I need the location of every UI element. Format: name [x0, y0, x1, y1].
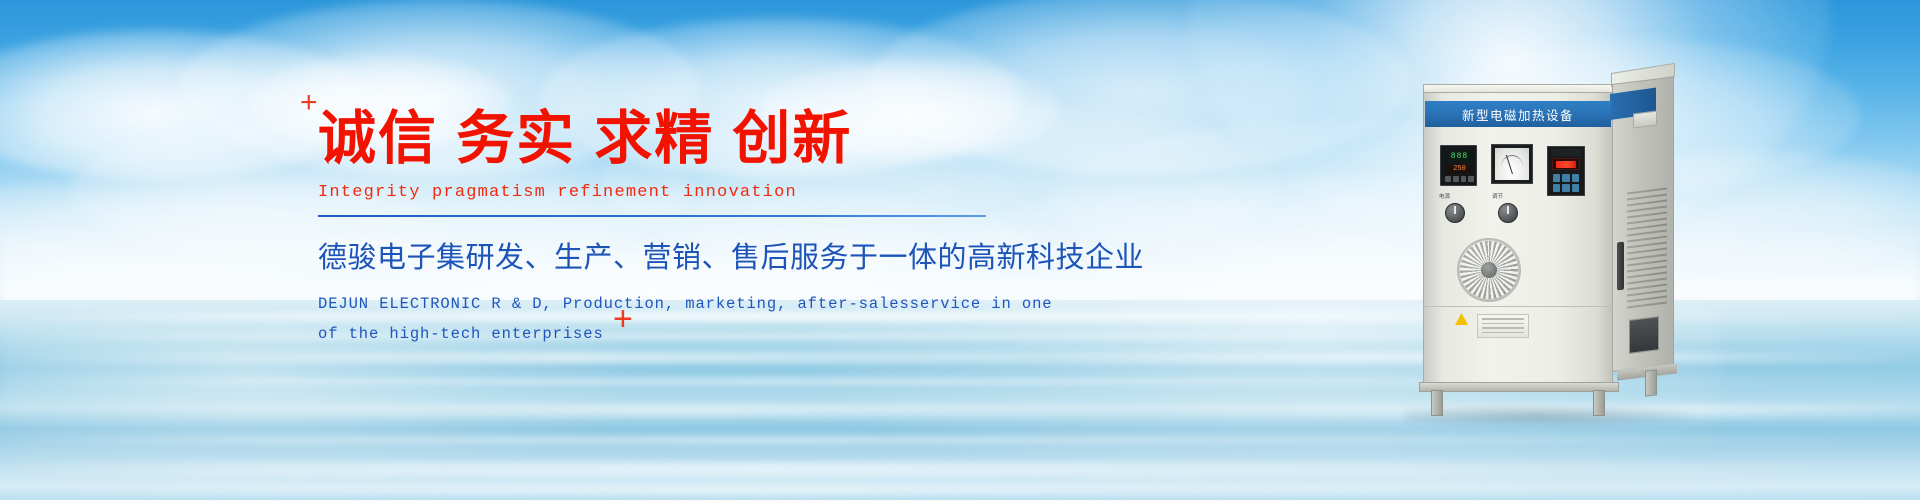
- controller-button[interactable]: [1461, 176, 1467, 182]
- machine-label-text: 新型电磁加热设备: [1462, 105, 1574, 124]
- gauge-face: [1495, 148, 1529, 180]
- subline-english: DEJUN ELECTRONIC R & D, Production, mark…: [318, 289, 1018, 349]
- digital-controller[interactable]: 888 250: [1440, 145, 1477, 186]
- machine-leg: [1593, 390, 1605, 416]
- side-lower-vent: [1629, 316, 1659, 354]
- gauge-scale-arc: [1501, 155, 1523, 167]
- keypad-key[interactable]: [1553, 174, 1560, 182]
- led-unit-caption: [1551, 149, 1581, 156]
- machine-shadow: [1405, 406, 1695, 426]
- power-knob[interactable]: [1445, 203, 1465, 223]
- machine-base: [1419, 382, 1619, 392]
- keypad-key[interactable]: [1562, 184, 1569, 192]
- keypad-key[interactable]: [1553, 184, 1560, 192]
- divider-rule: [318, 215, 986, 217]
- keypad[interactable]: [1553, 174, 1579, 192]
- cooling-fan: [1457, 238, 1521, 302]
- side-vent-top: [1633, 111, 1657, 129]
- keypad-key[interactable]: [1572, 174, 1579, 182]
- adjust-knob[interactable]: [1498, 203, 1518, 223]
- subline-english-line-1: DEJUN ELECTRONIC R & D, Production, mark…: [318, 289, 1018, 319]
- machine-label-banner: 新型电磁加热设备: [1425, 101, 1611, 127]
- machine-front-panel: [1423, 92, 1613, 384]
- digital-controller-buttons[interactable]: [1445, 176, 1474, 182]
- digital-controller-value: 888: [1445, 151, 1474, 162]
- machine-leg: [1645, 369, 1657, 396]
- knob-left-caption: 电源: [1439, 192, 1450, 200]
- led-display-unit[interactable]: [1547, 146, 1585, 196]
- keypad-key[interactable]: [1572, 184, 1579, 192]
- keypad-key[interactable]: [1562, 174, 1569, 182]
- headline-english: Integrity pragmatism refinement innovati…: [318, 183, 1018, 202]
- spec-plate: [1477, 314, 1529, 338]
- banner-copy: 诚信 务实 求精 创新 Integrity pragmatism refinem…: [318, 108, 1018, 349]
- fan-hub: [1481, 262, 1497, 278]
- led-readout: [1552, 158, 1580, 170]
- door-handle[interactable]: [1617, 242, 1624, 291]
- controller-button[interactable]: [1453, 176, 1459, 182]
- panel-seam: [1423, 306, 1613, 307]
- headline-chinese: 诚信 务实 求精 创新: [318, 108, 1018, 171]
- subline-chinese: 德骏电子集研发、生产、营销、售后服务于一体的高新科技企业: [318, 234, 1018, 276]
- plus-decoration-icon: +: [300, 88, 318, 118]
- side-vent-slits: [1627, 188, 1667, 313]
- analog-gauge: [1491, 144, 1533, 184]
- product-machine: 新型电磁加热设备 888 250: [1395, 70, 1695, 415]
- machine-leg: [1431, 390, 1443, 416]
- subline-english-line-2: of the high-tech enterprises: [318, 319, 1018, 349]
- controller-button[interactable]: [1468, 176, 1474, 182]
- digital-controller-subvalue: 250: [1445, 165, 1474, 174]
- knob-right-caption: 调节: [1492, 192, 1503, 200]
- controller-button[interactable]: [1445, 176, 1451, 182]
- promo-banner: + + 诚信 务实 求精 创新 Integrity pragmatism ref…: [0, 0, 1920, 500]
